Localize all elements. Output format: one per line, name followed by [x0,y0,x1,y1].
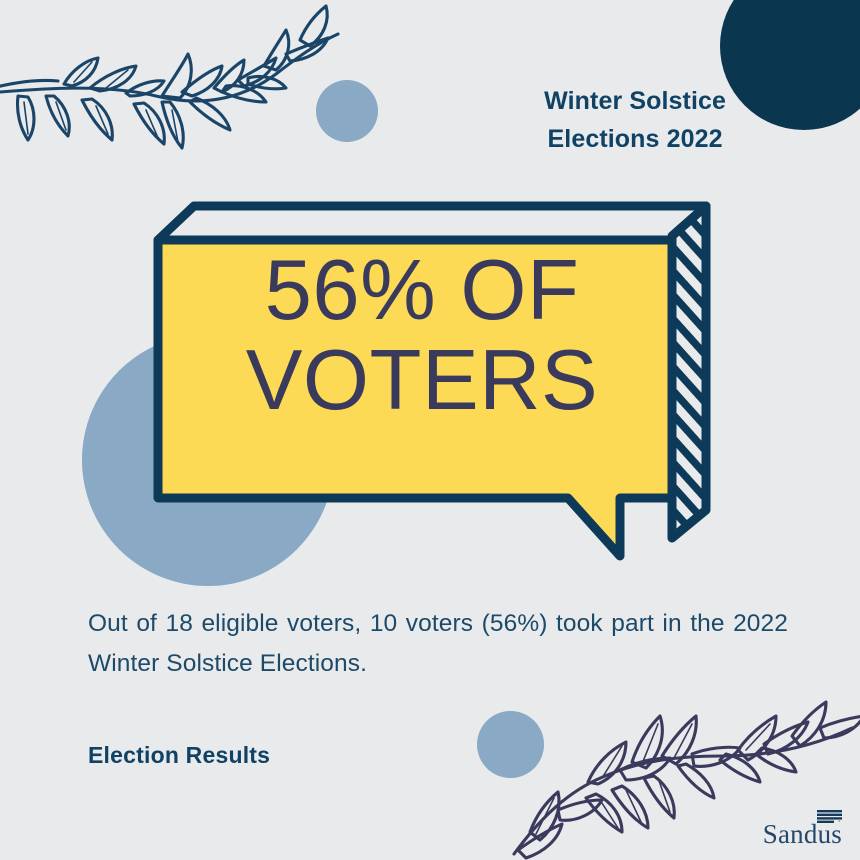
botanical-branch-top-left-icon [0,0,346,181]
footer-caption: Election Results [88,742,270,769]
flag-bars-emblem-icon [817,810,842,823]
callout-speech-bubble: 56% OF VOTERS [150,198,730,568]
infographic-poster: Winter Solstice Elections 2022 [0,0,860,860]
headline-line-1: Winter Solstice [544,82,726,120]
dark-circle-top-right-decoration [720,0,860,130]
sandus-logo: Sandus [763,821,842,848]
logo-wordmark: Sandus [763,821,842,848]
page-title: Winter Solstice Elections 2022 [544,82,726,158]
body-paragraph: Out of 18 eligible voters, 10 voters (56… [88,604,788,683]
headline-line-2: Elections 2022 [544,120,726,158]
